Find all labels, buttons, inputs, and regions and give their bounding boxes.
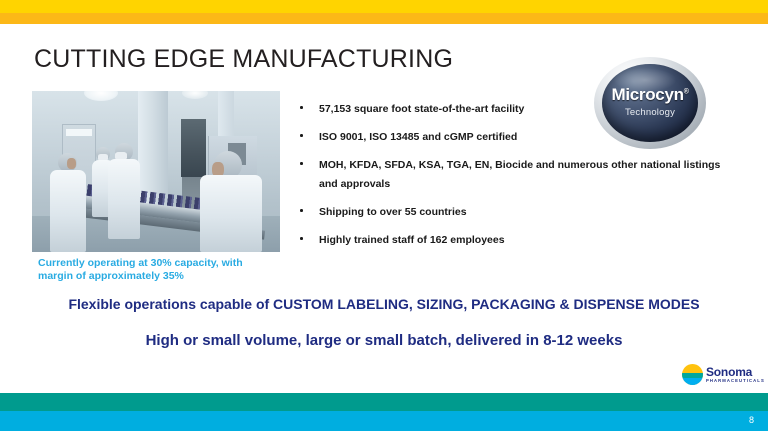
bullet-dot-icon — [300, 237, 303, 240]
list-item-label: Highly trained staff of 162 employees — [319, 234, 505, 246]
microcyn-subtitle: Technology — [594, 107, 706, 118]
photo-worker-left — [50, 153, 86, 252]
photo-worker-coat — [200, 175, 262, 252]
bullet-dot-icon — [300, 209, 303, 212]
list-item-label: ISO 9001, ISO 13485 and cGMP certified — [319, 131, 517, 143]
bullet-dot-icon — [300, 162, 303, 165]
list-item: MOH, KFDA, SFDA, KSA, TGA, EN, Biocide a… — [298, 156, 728, 203]
sonoma-pharmaceuticals-logo: Sonoma PHARMACEUTICALS — [682, 363, 754, 387]
tagline-primary: Flexible operations capable of CUSTOM LA… — [0, 296, 768, 312]
photo-caption-line-2: margin of approximately 35% — [38, 270, 288, 283]
photo-caption-line-1: Currently operating at 30% capacity, wit… — [38, 257, 288, 270]
microcyn-wordmark: Microcyn® — [594, 85, 706, 105]
list-item-label: Shipping to over 55 countries — [319, 206, 467, 218]
photo-worker-face — [67, 158, 76, 169]
bullet-dot-icon — [300, 134, 303, 137]
bottom-accent-band-cyan — [0, 411, 768, 431]
page-title: CUTTING EDGE MANUFACTURING — [34, 45, 453, 74]
list-item: Highly trained staff of 162 employees — [298, 231, 728, 259]
page-number: 8 — [749, 415, 754, 425]
facility-photo — [32, 91, 280, 252]
bottom-accent-band-teal — [0, 393, 768, 411]
photo-window-strip — [66, 129, 92, 136]
top-accent-band-amber — [0, 13, 768, 24]
photo-worker-coat — [108, 159, 140, 239]
photo-worker-center — [108, 143, 140, 239]
registered-trademark-icon: ® — [684, 88, 689, 95]
microcyn-technology-logo: Microcyn® Technology — [594, 57, 712, 153]
sonoma-mark-blue-band — [682, 378, 703, 385]
photo-caption: Currently operating at 30% capacity, wit… — [38, 257, 288, 283]
bullet-dot-icon — [300, 106, 303, 109]
microcyn-wordmark-text: Microcyn — [611, 85, 683, 104]
list-item: Shipping to over 55 countries — [298, 203, 728, 231]
list-item-label: MOH, KFDA, SFDA, KSA, TGA, EN, Biocide a… — [319, 159, 720, 190]
list-item-label: 57,153 square foot state-of-the-art faci… — [319, 103, 524, 115]
photo-worker-right — [200, 151, 262, 252]
photo-worker-coat — [50, 170, 86, 252]
top-accent-band-yellow — [0, 0, 768, 13]
sonoma-subtitle: PHARMACEUTICALS — [706, 378, 765, 383]
sonoma-wordmark: Sonoma — [706, 365, 752, 379]
tagline-secondary: High or small volume, large or small bat… — [0, 332, 768, 349]
sonoma-circle-mark-icon — [682, 364, 703, 385]
